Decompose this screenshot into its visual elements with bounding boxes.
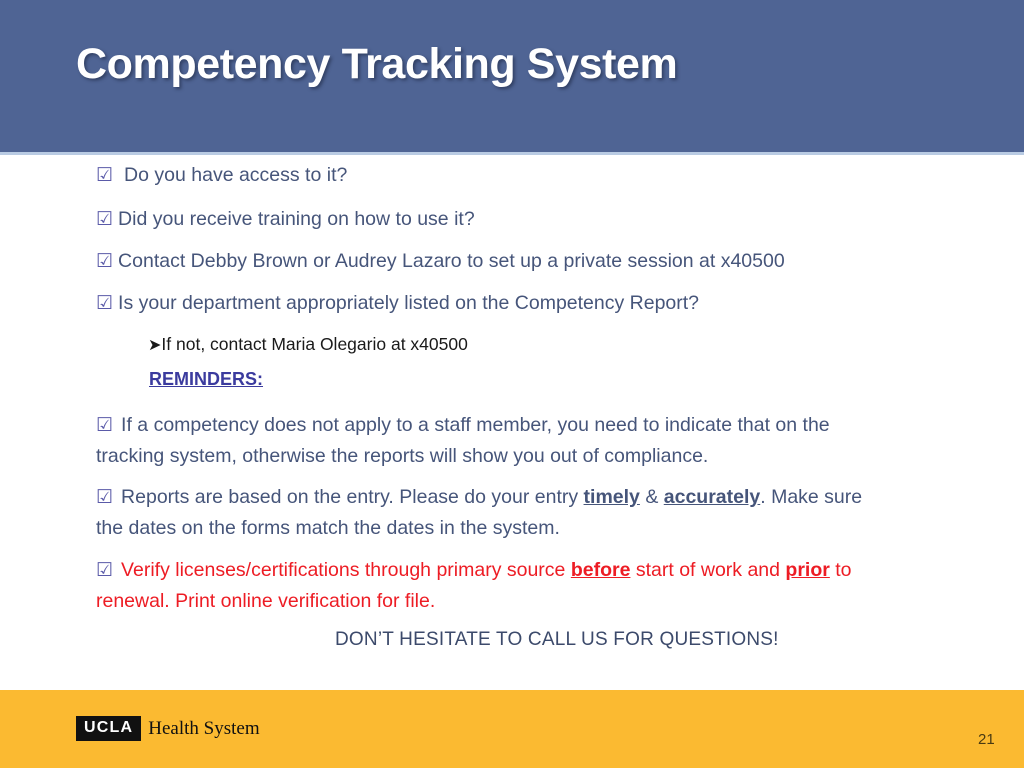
- reminder-text: renewal. Print online verification for f…: [96, 590, 435, 612]
- reminder-text: . Make sure: [760, 486, 862, 508]
- sub-list-item-label: If not, contact Maria Olegario at x40500: [161, 334, 467, 354]
- checkbox-icon: ☑: [96, 209, 113, 230]
- reminder-text: Reports are based on the entry. Please d…: [121, 486, 584, 508]
- ucla-logo-mark: UCLA: [76, 716, 141, 741]
- health-system-label: Health System: [148, 719, 259, 738]
- list-item-label: Did you receive training on how to use i…: [118, 208, 475, 230]
- list-item: ☑Is your department appropriately listed…: [96, 288, 699, 319]
- list-item-label: Contact Debby Brown or Audrey Lazaro to …: [118, 250, 785, 272]
- list-item: ☑Contact Debby Brown or Audrey Lazaro to…: [96, 246, 785, 277]
- list-item-label: Is your department appropriately listed …: [118, 292, 699, 314]
- page-number: 21: [978, 731, 995, 748]
- checkbox-icon: ☑: [96, 487, 113, 508]
- reminder-text: start of work and: [630, 559, 785, 581]
- emphasis-prior: prior: [785, 559, 829, 581]
- reminder-text: &: [640, 486, 664, 508]
- ucla-health-system-logo: UCLA Health System: [76, 716, 260, 741]
- reminder-text: to: [830, 559, 852, 581]
- reminders-heading: REMINDERS:: [149, 369, 263, 390]
- reminder-text: Verify licenses/certifications through p…: [121, 559, 571, 581]
- checkbox-icon: ☑: [96, 560, 113, 581]
- emphasis-timely: timely: [584, 486, 640, 508]
- reminder-text: If a competency does not apply to a staf…: [121, 414, 830, 436]
- list-item: ☑Did you receive training on how to use …: [96, 204, 475, 235]
- reminder-item: ☑If a competency does not apply to a sta…: [96, 410, 956, 471]
- reminder-item: ☑Reports are based on the entry. Please …: [96, 482, 956, 543]
- reminder-item-alert: ☑Verify licenses/certifications through …: [96, 555, 956, 616]
- reminder-text: tracking system, otherwise the reports w…: [96, 445, 708, 467]
- checkbox-icon: ☑: [96, 293, 113, 314]
- slide: Competency Tracking System ☑Do you have …: [0, 0, 1024, 768]
- list-item: ☑Do you have access to it?: [96, 160, 347, 191]
- checkbox-icon: ☑: [96, 251, 113, 272]
- sub-list-item: ➤If not, contact Maria Olegario at x4050…: [148, 331, 468, 359]
- page-title: Competency Tracking System: [76, 40, 677, 89]
- list-item-label: Do you have access to it?: [124, 164, 347, 186]
- emphasis-before: before: [571, 559, 631, 581]
- checkbox-icon: ☑: [96, 415, 113, 436]
- reminder-text: the dates on the forms match the dates i…: [96, 517, 560, 539]
- checkbox-icon: ☑: [96, 165, 113, 186]
- closing-line: DON’T HESITATE TO CALL US FOR QUESTIONS!: [335, 629, 779, 651]
- slide-body: ☑Do you have access to it? ☑Did you rece…: [0, 155, 1024, 690]
- emphasis-accurately: accurately: [664, 486, 760, 508]
- arrow-bullet-icon: ➤: [148, 337, 161, 354]
